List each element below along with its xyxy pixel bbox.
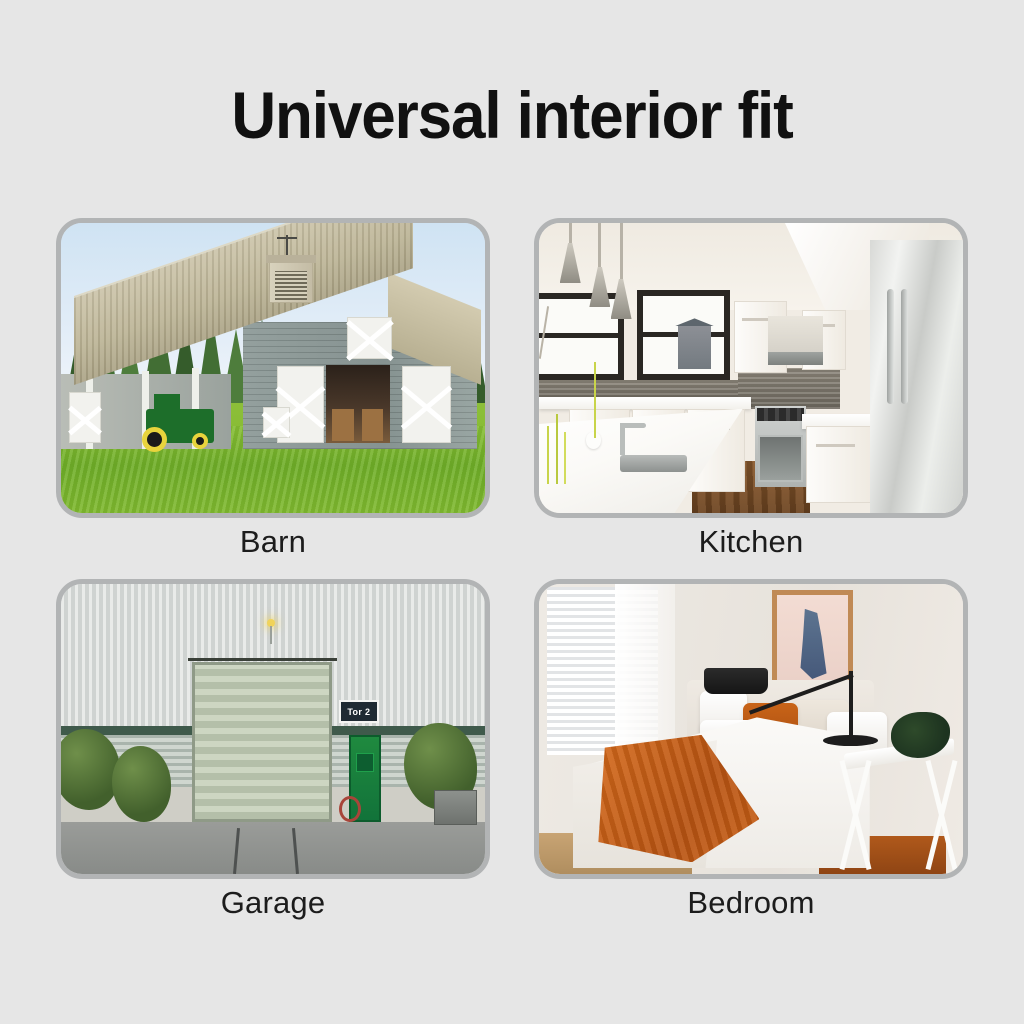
image-card-bedroom[interactable]	[534, 579, 968, 879]
bedroom-side-table	[844, 746, 954, 868]
barn-interior-cabinet-2	[332, 409, 353, 441]
barn-panel-window	[263, 407, 290, 438]
grid-cell-garage: Tor 2 Garage	[56, 579, 490, 879]
tractor-cab	[154, 394, 179, 417]
caption-garage: Garage	[56, 885, 490, 921]
garage-door-sign: Tor 2	[339, 700, 379, 723]
garage-sign-label: Tor 2	[347, 707, 370, 717]
photo-garage: Tor 2	[61, 584, 485, 874]
kitchen-sink	[620, 455, 688, 472]
page-title: Universal interior fit	[31, 82, 994, 148]
garage-roller-door[interactable]	[192, 662, 332, 822]
grid-cell-kitchen: Kitchen	[534, 218, 968, 518]
caption-barn: Barn	[56, 524, 490, 560]
kitchen-counter-back	[539, 397, 751, 409]
photo-bedroom	[539, 584, 963, 874]
caption-bedroom: Bedroom	[534, 885, 968, 921]
kitchen-faucet	[620, 423, 625, 455]
promo-infographic: Universal interior fit	[0, 0, 1024, 1024]
desk-lamp-arm	[849, 671, 853, 741]
pendant-light-3	[620, 223, 623, 281]
image-grid: Barn	[56, 218, 968, 934]
garage-asphalt-apron	[61, 822, 485, 874]
pendant-light-2	[598, 223, 601, 269]
kitchen-range-hood	[768, 316, 823, 365]
art-figure	[796, 609, 827, 679]
fridge-handle-left	[887, 289, 894, 403]
barn-cupola	[269, 261, 313, 304]
fridge-handle-right	[901, 289, 908, 403]
grid-cell-barn: Barn	[56, 218, 490, 518]
kitchen-window-left	[539, 293, 624, 380]
kitchen-base-cabinet-right	[806, 426, 872, 503]
photo-kitchen	[539, 223, 963, 513]
barn-door-right	[402, 366, 451, 443]
kitchen-window-right	[637, 290, 730, 380]
barn-interior-cabinet	[362, 409, 383, 441]
garage-coiled-hose	[339, 796, 361, 822]
desk-lamp-shade	[704, 668, 768, 694]
garage-wall-lamp	[267, 619, 275, 627]
photo-barn	[61, 223, 485, 513]
kitchen-backsplash-right	[738, 368, 840, 409]
kitchen-refrigerator	[870, 240, 963, 513]
image-card-barn[interactable]	[56, 218, 490, 518]
garage-door-lintel	[188, 658, 336, 661]
garage-utility-cabinet	[434, 790, 476, 825]
kitchen-range	[755, 406, 806, 487]
barn-side-door	[69, 392, 101, 443]
garage-bush-left-2	[112, 746, 171, 821]
tractor-rear-wheel	[142, 427, 167, 452]
image-card-kitchen[interactable]	[534, 218, 968, 518]
pendant-light-1	[569, 223, 572, 245]
barn-hay-loft-door	[347, 317, 391, 360]
caption-kitchen: Kitchen	[534, 524, 968, 560]
image-card-garage[interactable]: Tor 2	[56, 579, 490, 879]
grid-cell-bedroom: Bedroom	[534, 579, 968, 879]
